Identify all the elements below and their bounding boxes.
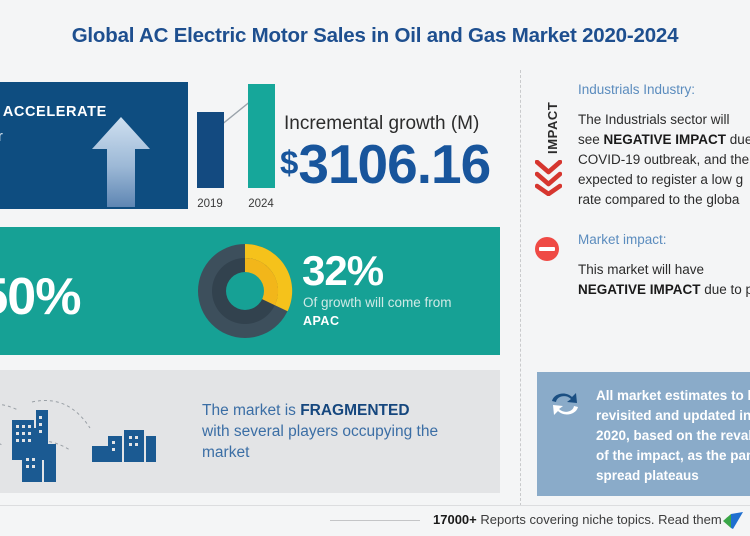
note-line-3: 2020, based on the revalu xyxy=(596,428,750,443)
apac-percent-sub: Of growth will come from xyxy=(303,295,452,310)
note-line-2: revisited and updated in Q xyxy=(596,408,750,423)
currency-symbol: $ xyxy=(280,144,297,181)
industrials-body-l2-post: due t xyxy=(726,132,750,147)
market-impact-body: This market will have NEGATIVE IMPACT du… xyxy=(578,260,750,300)
bar-2024 xyxy=(248,84,275,188)
market-impact-body-l1: This market will have xyxy=(578,262,704,277)
cagr-value: 4.50% xyxy=(0,271,80,323)
industrials-body-l4: expected to register a low g xyxy=(578,172,743,187)
industrials-body-l5: rate compared to the globa xyxy=(578,192,739,207)
apac-region-label: APAC xyxy=(303,314,340,328)
note-line-1: All market estimates to be xyxy=(596,388,750,403)
industrials-heading: Industrials Industry: xyxy=(578,82,695,97)
impact-rail-label: IMPACT xyxy=(545,84,565,154)
apac-percent: 32% xyxy=(302,250,383,292)
double-chevron-down-icon xyxy=(535,160,562,196)
growth-line-2: R of over xyxy=(0,129,3,145)
incremental-growth-number: 3106.16 xyxy=(298,133,490,195)
footer-report-count: 17000+ xyxy=(433,512,477,527)
fragmented-text-strong: FRAGMENTED xyxy=(300,402,409,419)
bar-label-2024: 2024 xyxy=(238,198,284,210)
industrials-body-l3: COVID-19 outbreak, and the xyxy=(578,152,749,167)
refresh-arrows-icon xyxy=(548,390,582,418)
fragmented-market-panel: The market is FRAGMENTED with several pl… xyxy=(0,370,500,493)
fragmented-text-rest: with several players occupying the marke… xyxy=(202,423,438,461)
market-negative-impact: NEGATIVE IMPACT xyxy=(578,282,701,297)
footer-accent-line xyxy=(330,520,420,521)
footer-caption: Reports covering niche topics. Read them… xyxy=(480,512,736,527)
vertical-divider xyxy=(520,70,521,506)
infographic-canvas: Global AC Electric Motor Sales in Oil an… xyxy=(0,0,750,536)
industrials-negative-impact: NEGATIVE IMPACT xyxy=(604,132,727,147)
incremental-growth-label: Incremental growth (M) xyxy=(284,113,479,135)
industrials-body-l2-pre: see xyxy=(578,132,604,147)
footer-divider xyxy=(0,505,750,506)
industrials-body-l1: The Industrials sector will xyxy=(578,112,730,127)
footer-text: 17000+ Reports covering niche topics. Re… xyxy=(433,512,736,527)
paper-plane-logo-icon[interactable] xyxy=(722,512,744,530)
incremental-growth-value: $3106.16 xyxy=(280,137,490,192)
market-impact-heading: Market impact: xyxy=(578,232,667,247)
page-title: Global AC Electric Motor Sales in Oil an… xyxy=(0,24,750,48)
bar-chart: 2019 2024 xyxy=(190,82,290,210)
bar-2019 xyxy=(197,112,224,188)
market-estimates-note-text: All market estimates to be revisited and… xyxy=(596,386,750,486)
no-entry-icon xyxy=(534,236,560,262)
industrials-body: The Industrials sector will see NEGATIVE… xyxy=(578,110,750,210)
cagr-apac-panel: r 2020 4.50% 32% Of growth will come fro… xyxy=(0,227,500,355)
market-impact-body-l2-post: due to pa xyxy=(701,282,750,297)
growth-accelerate-panel: owth will ACCELERATE R of over xyxy=(0,82,188,209)
city-buildings-icon xyxy=(0,380,180,485)
note-line-5: spread plateaus xyxy=(596,468,699,483)
fragmented-text-prefix: The market is xyxy=(202,402,300,419)
note-line-4: of the impact, as the pand xyxy=(596,448,750,463)
donut-chart-icon xyxy=(195,241,295,341)
up-arrow-icon xyxy=(90,115,152,207)
bar-label-2019: 2019 xyxy=(187,198,233,210)
fragmented-text: The market is FRAGMENTED with several pl… xyxy=(202,400,462,463)
growth-line-2-suffix: of over xyxy=(0,129,3,145)
